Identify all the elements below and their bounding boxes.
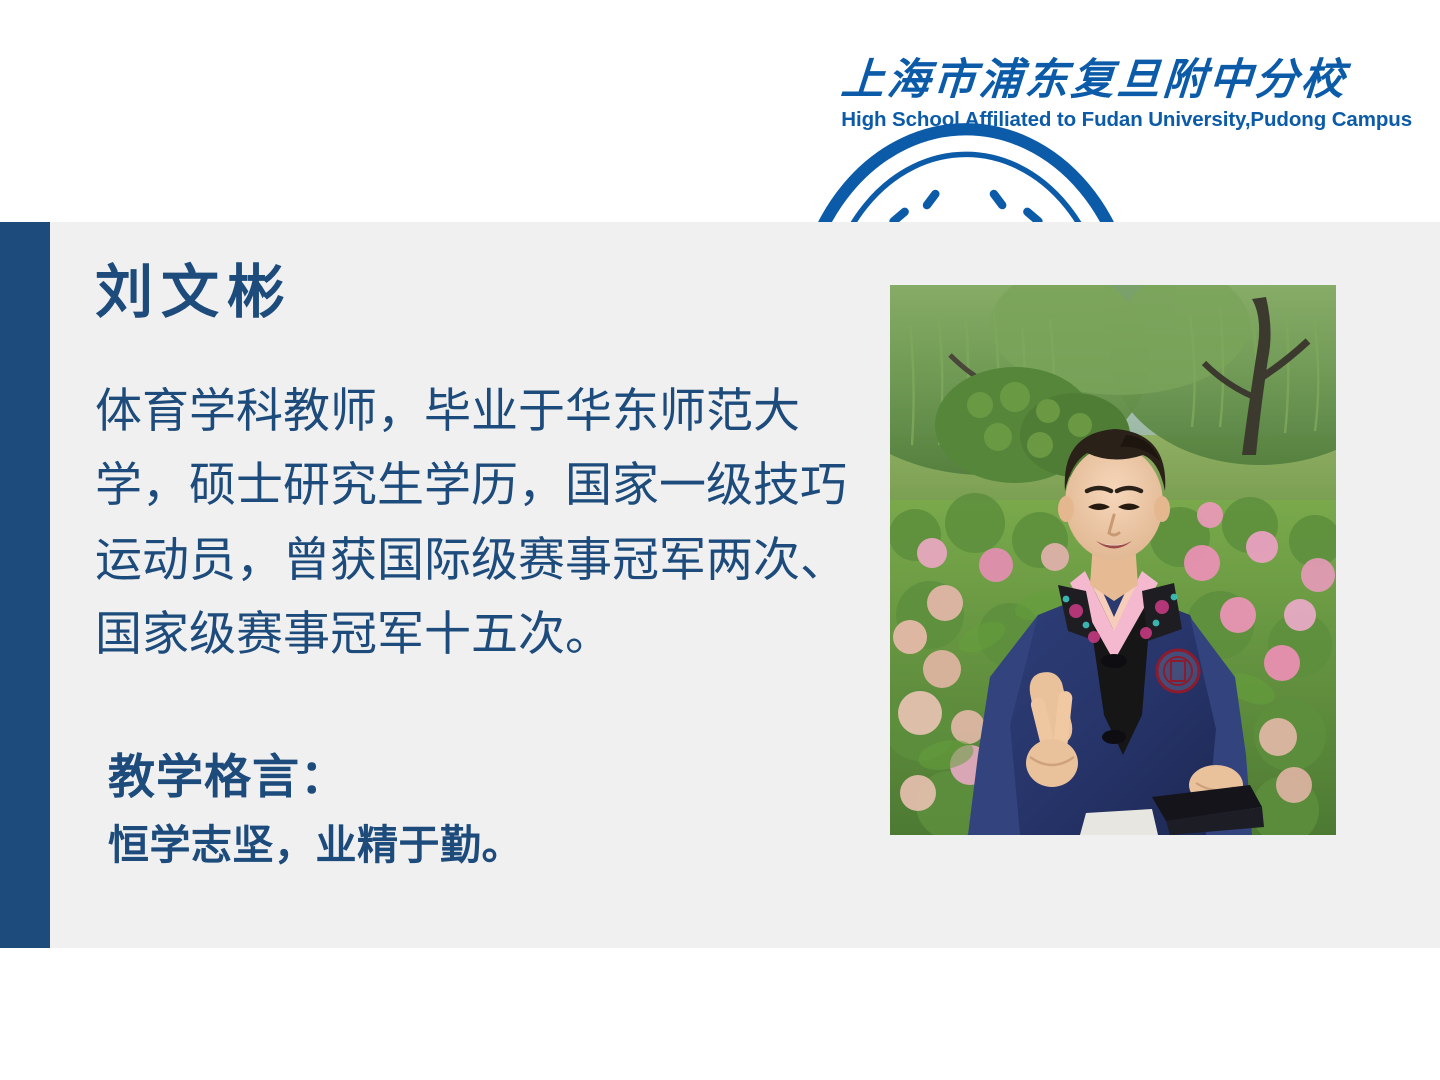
school-seal-icon: 2012 bbox=[743, 55, 823, 135]
school-name-en: High School Affiliated to Fudan Universi… bbox=[841, 108, 1412, 132]
motto-label: 教学格言： bbox=[108, 753, 348, 800]
motto-text: 恒学志坚，业精于勤。 bbox=[108, 825, 523, 866]
school-name-cn: 上海市浦东复旦附中分校 bbox=[840, 58, 1349, 104]
panel-accent-bar bbox=[0, 222, 50, 948]
profile-text-column: 刘文彬 体育学科教师，毕业于华东师范大学，硕士研究生学历，国家一级技巧运动员，曾… bbox=[95, 222, 865, 948]
teacher-portrait-photo bbox=[890, 285, 1336, 835]
profile-bio: 体育学科教师，毕业于华东师范大学，硕士研究生学历，国家一级技巧运动员，曾获国际级… bbox=[95, 374, 865, 671]
page-title: 刘文彬 bbox=[95, 264, 293, 322]
school-logo-lockup: 2012 上海市浦东复旦附中分校 High School Affiliated … bbox=[743, 55, 1412, 135]
school-name-block: 上海市浦东复旦附中分校 High School Affiliated to Fu… bbox=[841, 58, 1412, 132]
page-header: 2012 上海市浦东复旦附中分校 High School Affiliated … bbox=[0, 0, 1440, 222]
